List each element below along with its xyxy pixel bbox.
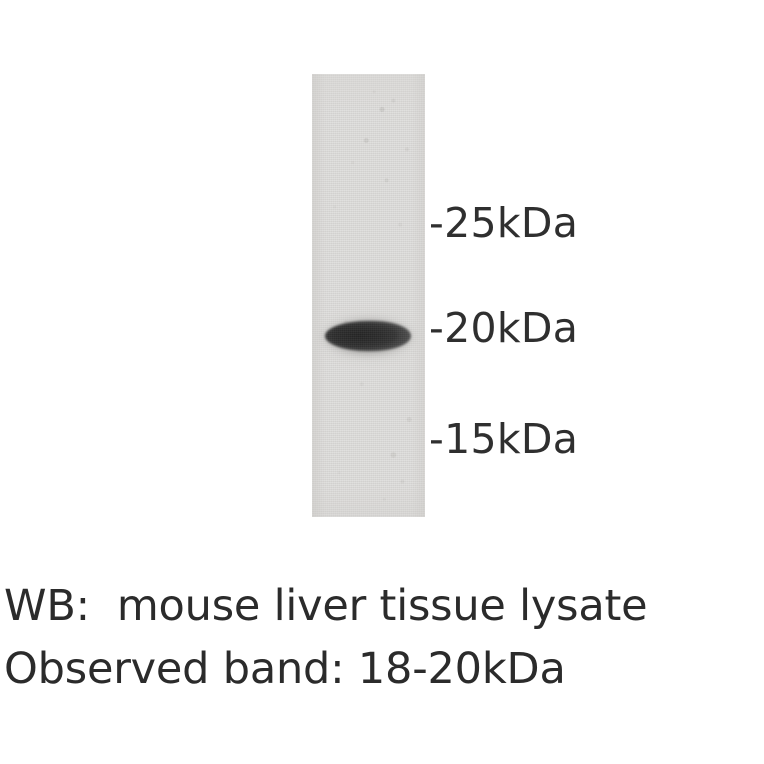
caption-line-sample: WB: mouse liver tissue lysate [4,585,764,628]
caption-line-observed-band: Observed band: 18-20kDa [4,648,764,691]
blot-lane [312,74,425,517]
protein-band [314,306,423,368]
marker-label-20kda: -20kDa [429,308,578,349]
marker-label-25kda: -25kDa [429,203,578,244]
marker-label-15kda: -15kDa [429,419,578,460]
band-speckle-texture [323,318,413,354]
western-blot-figure: -25kDa -20kDa -15kDa WB: mouse liver tis… [0,0,764,764]
membrane-vignette [312,74,425,517]
